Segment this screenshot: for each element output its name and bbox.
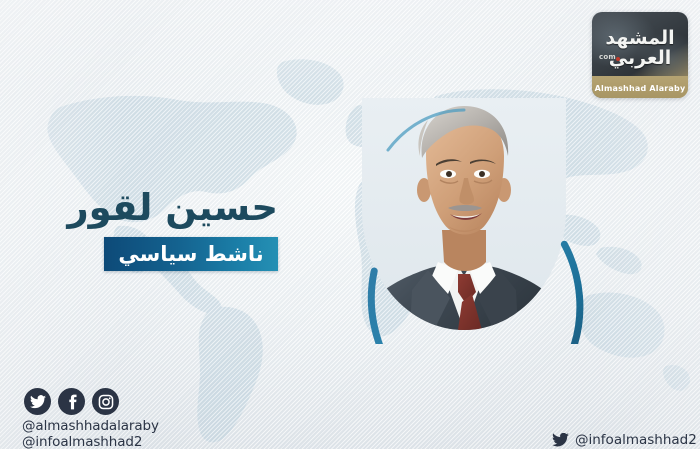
handle-primary: @almashhadalaraby	[22, 418, 159, 434]
social-handles: @almashhadalaraby @infoalmashhad2	[22, 418, 159, 450]
twitter-bird-icon	[552, 433, 569, 447]
handle-secondary: @infoalmashhad2	[22, 434, 159, 450]
twitter-icon[interactable]	[24, 388, 51, 415]
logo-arabic-line-1: المشهد	[592, 29, 688, 48]
person-name: حسين لقور	[67, 186, 278, 230]
role-label: ناشط سياسي	[104, 237, 278, 271]
portrait-ring	[344, 96, 584, 344]
facebook-icon[interactable]	[58, 388, 85, 415]
portrait-container	[344, 96, 584, 344]
social-icon-row	[24, 388, 119, 415]
bottom-strip	[0, 449, 700, 459]
channel-logo[interactable]: المشهد العربي com Almashhad Alaraby	[592, 12, 688, 98]
news-quote-card: حسين لقور ناشط سياسي المشهد العربي com A…	[0, 0, 700, 459]
footer-handle-label: @infoalmashhad2	[575, 432, 697, 448]
role-banner: ناشط سياسي	[104, 237, 278, 271]
logo-brand-name: Almashhad Alaraby	[592, 84, 688, 93]
footer-twitter-handle: @infoalmashhad2	[552, 432, 697, 448]
logo-red-dot-icon	[616, 57, 620, 61]
instagram-icon[interactable]	[92, 388, 119, 415]
logo-com-label: com	[599, 53, 616, 61]
